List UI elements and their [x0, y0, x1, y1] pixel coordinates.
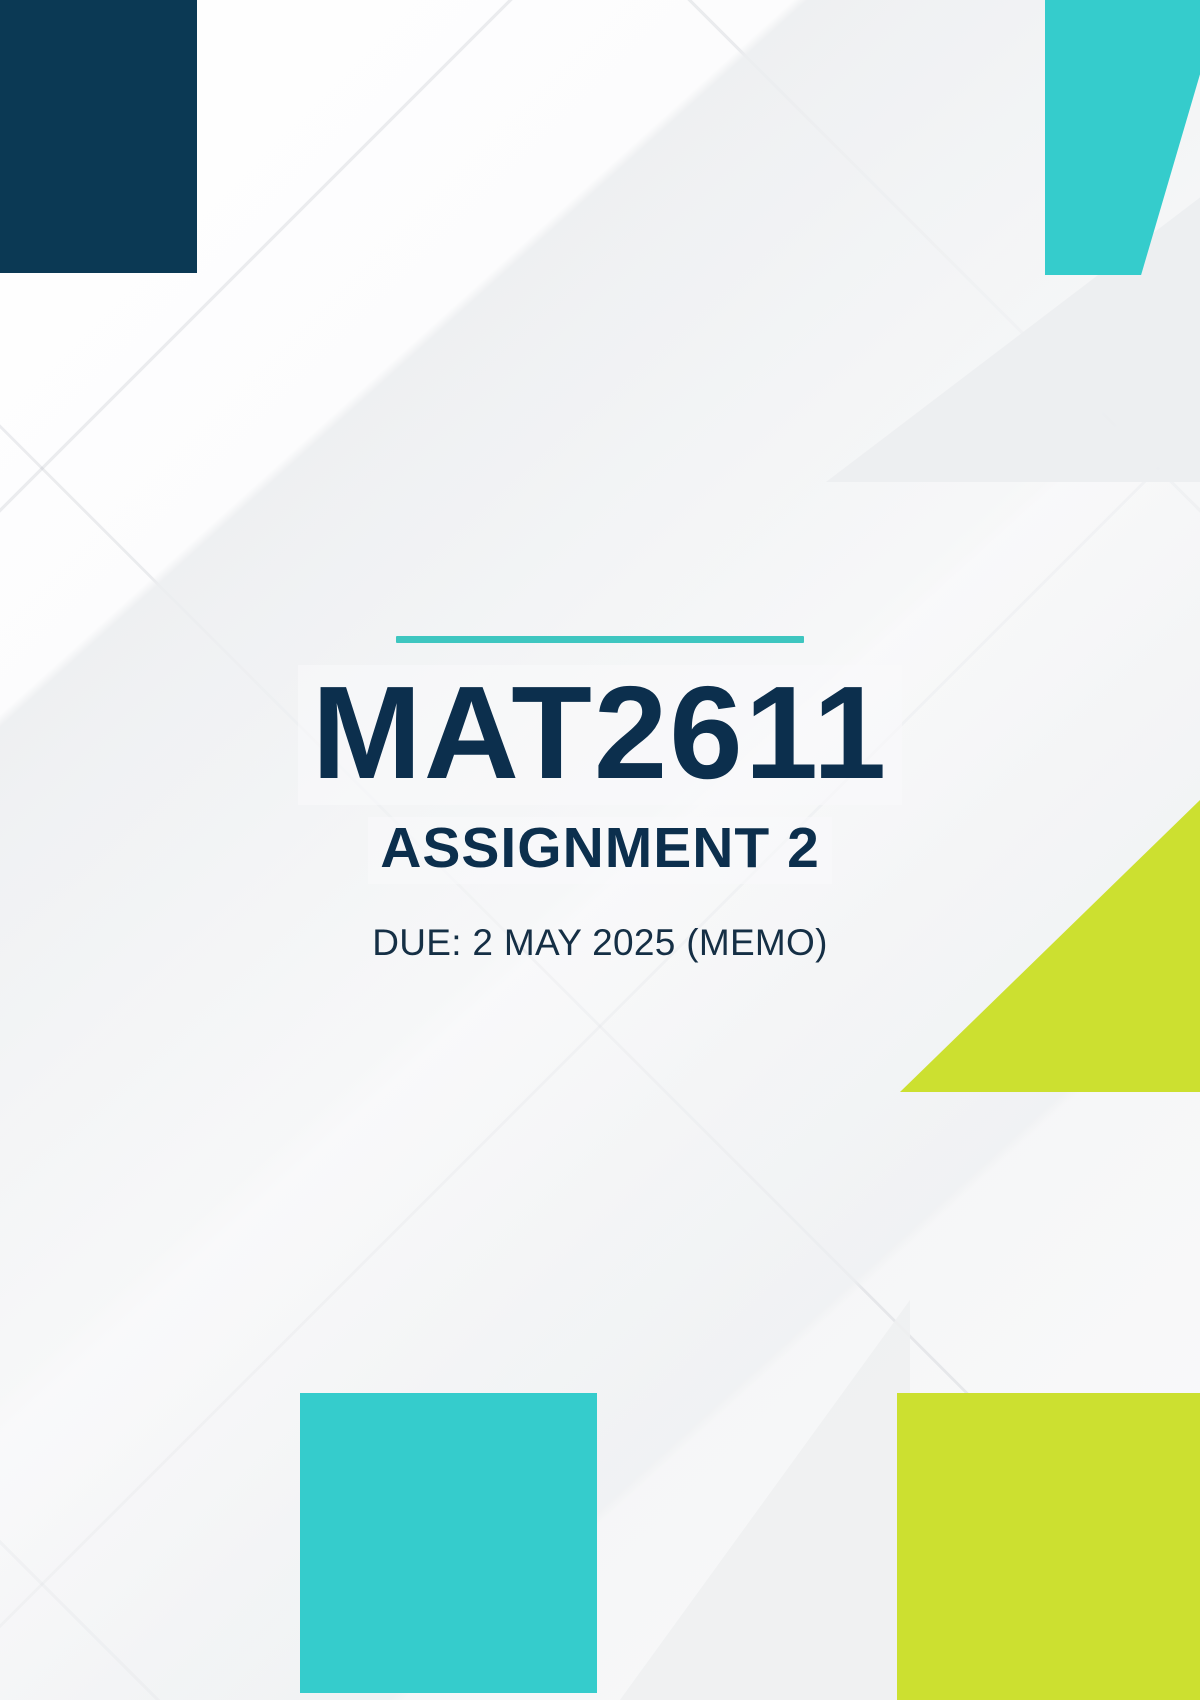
assignment-cover-page: MAT2611 ASSIGNMENT 2 DUE: 2 MAY 2025 (ME…: [0, 0, 1200, 1700]
teal-square-bottom-decoration: [300, 1393, 597, 1693]
due-date-text: DUE: 2 MAY 2025 (MEMO): [372, 924, 828, 961]
accent-rule-divider: [396, 636, 804, 643]
cover-title-block: MAT2611 ASSIGNMENT 2 DUE: 2 MAY 2025 (ME…: [0, 636, 1200, 961]
navy-square-top-left-decoration: [0, 0, 197, 273]
course-code-title: MAT2611: [298, 665, 902, 805]
lime-square-bottom-right-decoration: [897, 1393, 1200, 1700]
assignment-subtitle: ASSIGNMENT 2: [368, 817, 832, 884]
